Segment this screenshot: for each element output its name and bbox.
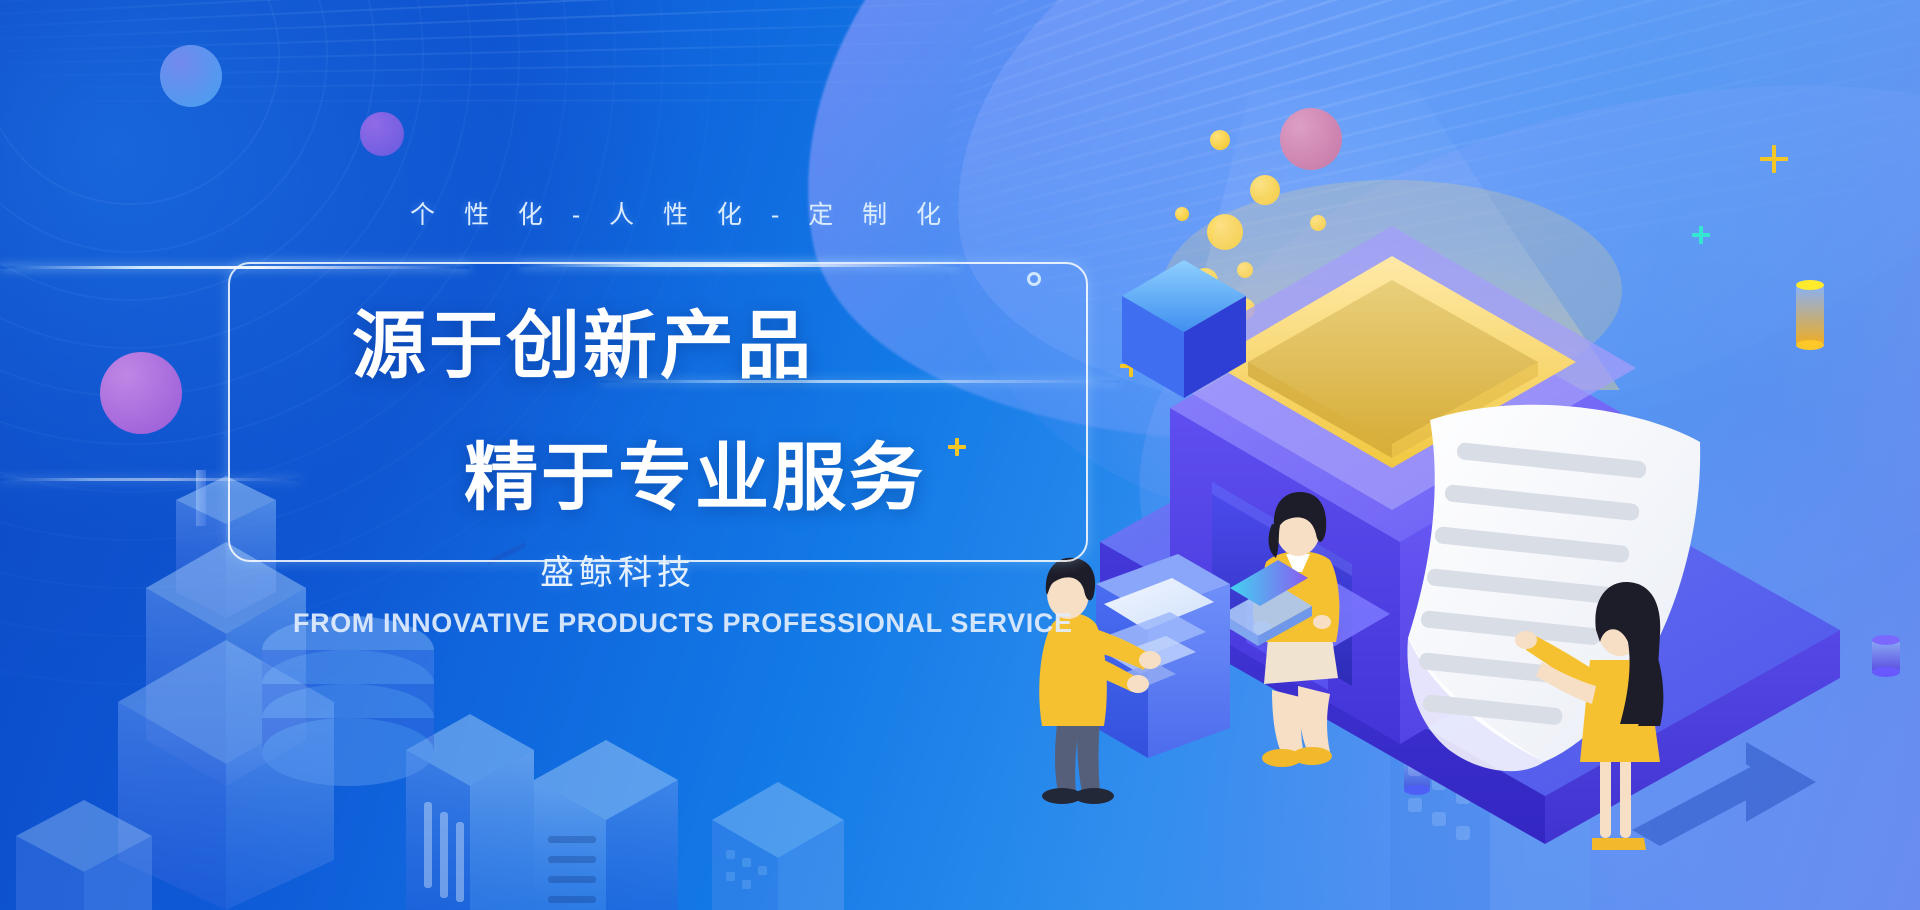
headline-line-1: 源于创新产品 [352, 286, 814, 393]
headline-block: 个 性 化 - 人 性 化 - 定 制 化 源于创新产品 精于专业服务 盛鲸科技… [0, 0, 1160, 700]
building-right-striped [534, 740, 678, 910]
light-sweep-right-top [520, 264, 960, 267]
brand-name: 盛鲸科技 [540, 545, 696, 594]
headline-line-2: 精于专业服务 [464, 418, 926, 525]
hero-banner: 个 性 化 - 人 性 化 - 定 制 化 源于创新产品 精于专业服务 盛鲸科技… [0, 0, 1920, 910]
light-sweep-left-low [0, 478, 300, 481]
tagline-english: FROM INNOVATIVE PRODUCTS PROFESSIONAL SE… [293, 608, 1073, 639]
building-low-blocks [16, 800, 152, 910]
kicker-tagline: 个 性 化 - 人 性 化 - 定 制 化 [410, 195, 930, 231]
light-sweep-left-top [0, 266, 470, 269]
building-far-right [712, 782, 844, 910]
